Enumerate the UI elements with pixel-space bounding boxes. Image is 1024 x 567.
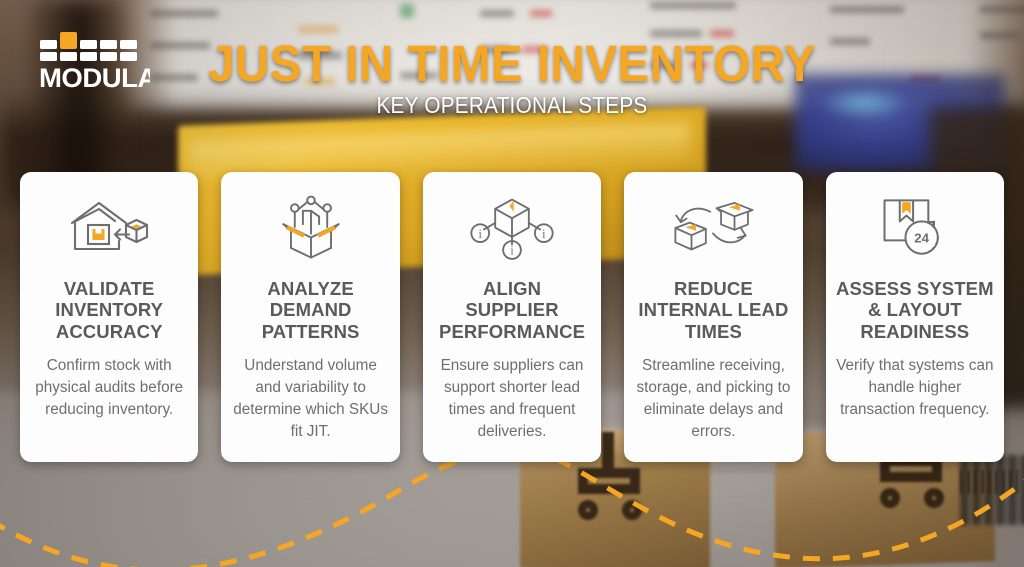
svg-text:i: i (542, 226, 546, 240)
boxes-cycle-arrows-icon (670, 194, 756, 262)
step-card-assess-system-layout-readiness[interactable]: 24 ASSESS SYSTEM & LAYOUT READINESS Veri… (826, 172, 1004, 462)
warehouse-inbound-box-icon (66, 194, 152, 262)
svg-text:i: i (510, 243, 514, 257)
step-card-reduce-internal-lead-times[interactable]: REDUCE INTERNAL LEAD TIMES Streamline re… (624, 172, 802, 462)
svg-text:i: i (479, 226, 483, 240)
card-description: Verify that systems can handle higher tr… (836, 355, 994, 420)
cube-supplier-nodes-info-icon: i i i (469, 194, 555, 262)
page-subtitle: KEY OPERATIONAL STEPS (51, 92, 973, 119)
step-card-analyze-demand-patterns[interactable]: ANALYZE DEMAND PATTERNS Understand volum… (221, 172, 399, 462)
card-title: REDUCE INTERNAL LEAD TIMES (638, 278, 788, 342)
card-description: Confirm stock with physical audits befor… (30, 355, 188, 420)
step-card-align-supplier-performance[interactable]: i i i ALIGN SUPPLIER PERFORMANCE Ensure … (423, 172, 601, 462)
header: MODULA JUST IN TIME INVENTORY KEY OPERAT… (0, 0, 1024, 130)
card-title: ASSESS SYSTEM & LAYOUT READINESS (836, 278, 994, 342)
document-bookmark-24h-clock-icon: 24 (872, 194, 958, 262)
card-title: ALIGN SUPPLIER PERFORMANCE (439, 278, 585, 342)
card-title: ANALYZE DEMAND PATTERNS (262, 278, 360, 342)
icon-badge-24: 24 (914, 230, 929, 245)
steps-card-row: VALIDATE INVENTORY ACCURACY Confirm stoc… (20, 172, 1004, 462)
step-card-validate-inventory-accuracy[interactable]: VALIDATE INVENTORY ACCURACY Confirm stoc… (20, 172, 198, 462)
card-title: VALIDATE INVENTORY ACCURACY (55, 278, 163, 342)
card-description: Understand volume and variability to det… (231, 355, 389, 442)
card-description: Ensure suppliers can support shorter lea… (433, 355, 591, 442)
page-title: JUST IN TIME INVENTORY (36, 34, 988, 93)
open-box-bar-chart-network-icon (268, 194, 354, 262)
card-description: Streamline receiving, storage, and picki… (634, 355, 792, 442)
